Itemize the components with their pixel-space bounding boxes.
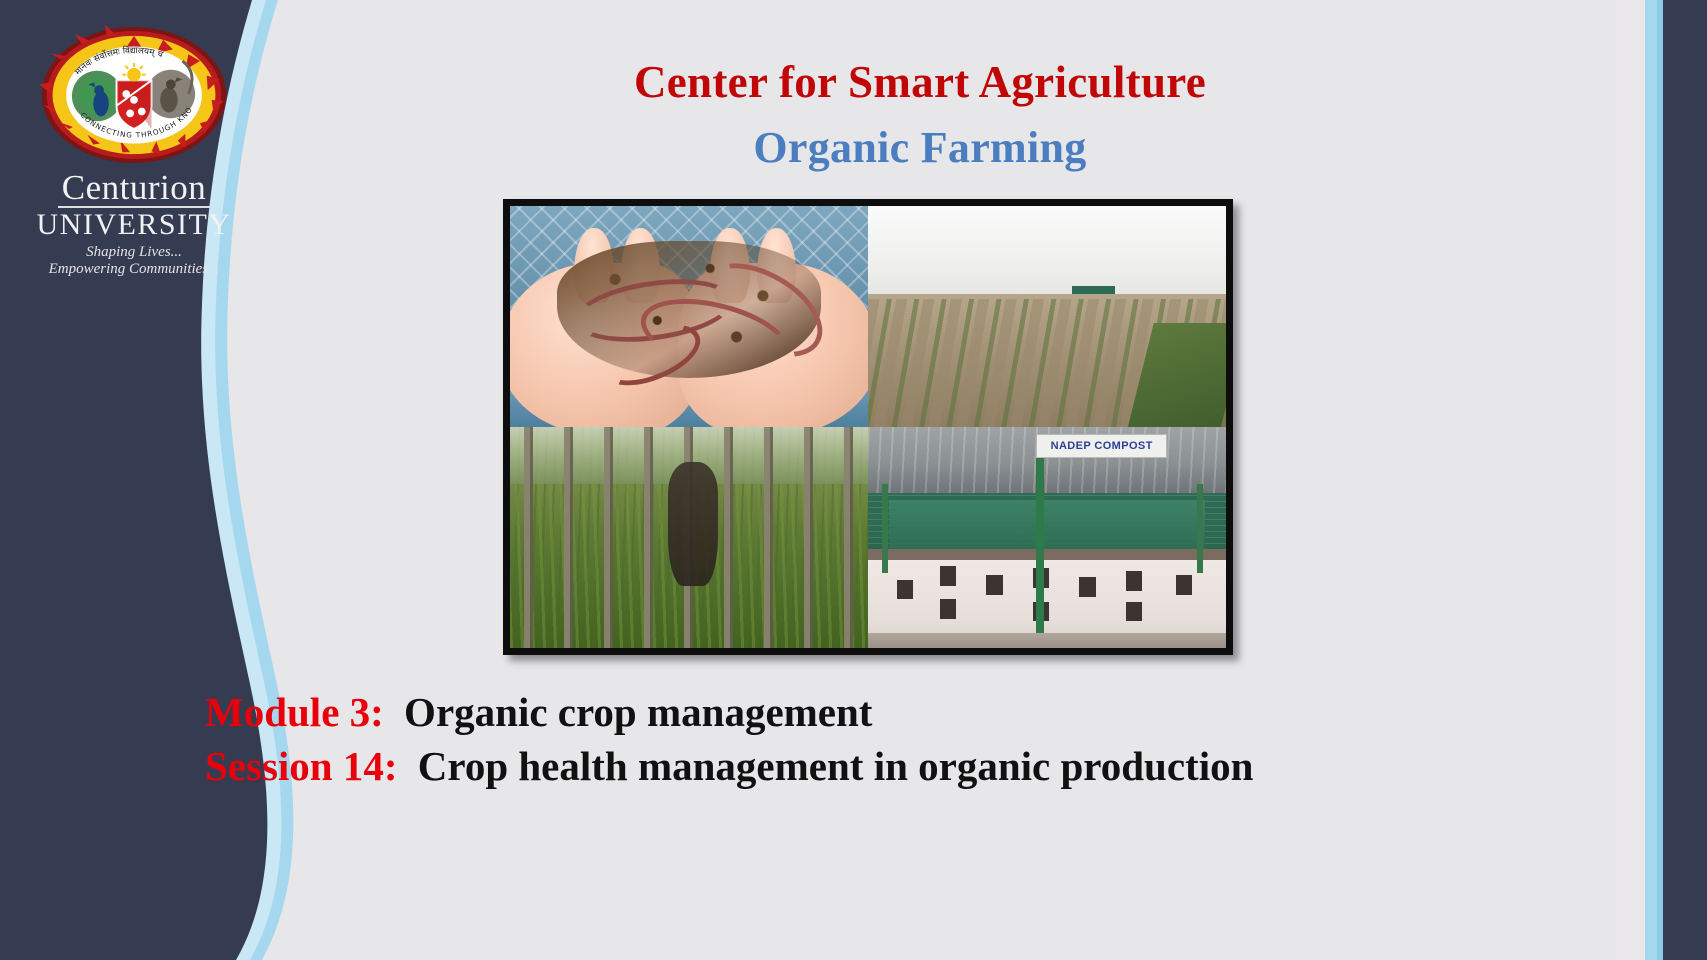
university-name-line1: Centurion (58, 170, 210, 208)
slide-title: Center for Smart Agriculture (330, 56, 1510, 108)
slide-subtitle: Organic Farming (330, 122, 1510, 173)
collage-image-agroforestry-plantation (510, 427, 868, 648)
university-crest-icon: मानवः संर्वोत्तमः विद्यालयम् च (37, 22, 231, 168)
university-name-line2: UNIVERSITY (25, 209, 243, 241)
right-band-white (1617, 0, 1645, 960)
right-edge-decoration (1617, 0, 1707, 960)
nadep-compost-sign: NADEP COMPOST (1036, 434, 1167, 458)
right-band-blue-light (1645, 0, 1657, 960)
module-title: Organic crop management (404, 689, 872, 735)
nadep-compost-sign-text: NADEP COMPOST (1051, 440, 1153, 452)
organic-farming-photo-collage: NADEP COMPOST (503, 199, 1233, 655)
university-logo: मानवः संर्वोत्तमः विद्यालयम् च (25, 22, 243, 279)
session-label: Session 14: (205, 743, 398, 789)
university-tagline-line2: Empowering Communities... (25, 261, 243, 279)
university-tagline-line1: Shaping Lives... (25, 244, 243, 262)
collage-image-organic-crop-field (868, 206, 1226, 427)
presentation-slide: मानवः संर्वोत्तमः विद्यालयम् च (0, 0, 1707, 960)
module-line: Module 3: Organic crop management (205, 686, 872, 738)
tank-rim (868, 549, 1226, 560)
module-label: Module 3: (205, 689, 384, 735)
collage-image-nadep-compost-unit: NADEP COMPOST (868, 427, 1226, 648)
ground (868, 633, 1226, 648)
session-line: Session 14: Crop health management in or… (205, 740, 1253, 792)
person-climbing (668, 462, 718, 586)
session-title: Crop health management in organic produc… (418, 743, 1254, 789)
collage-image-vermicompost-earthworms (510, 206, 868, 427)
right-band-navy (1663, 0, 1707, 960)
